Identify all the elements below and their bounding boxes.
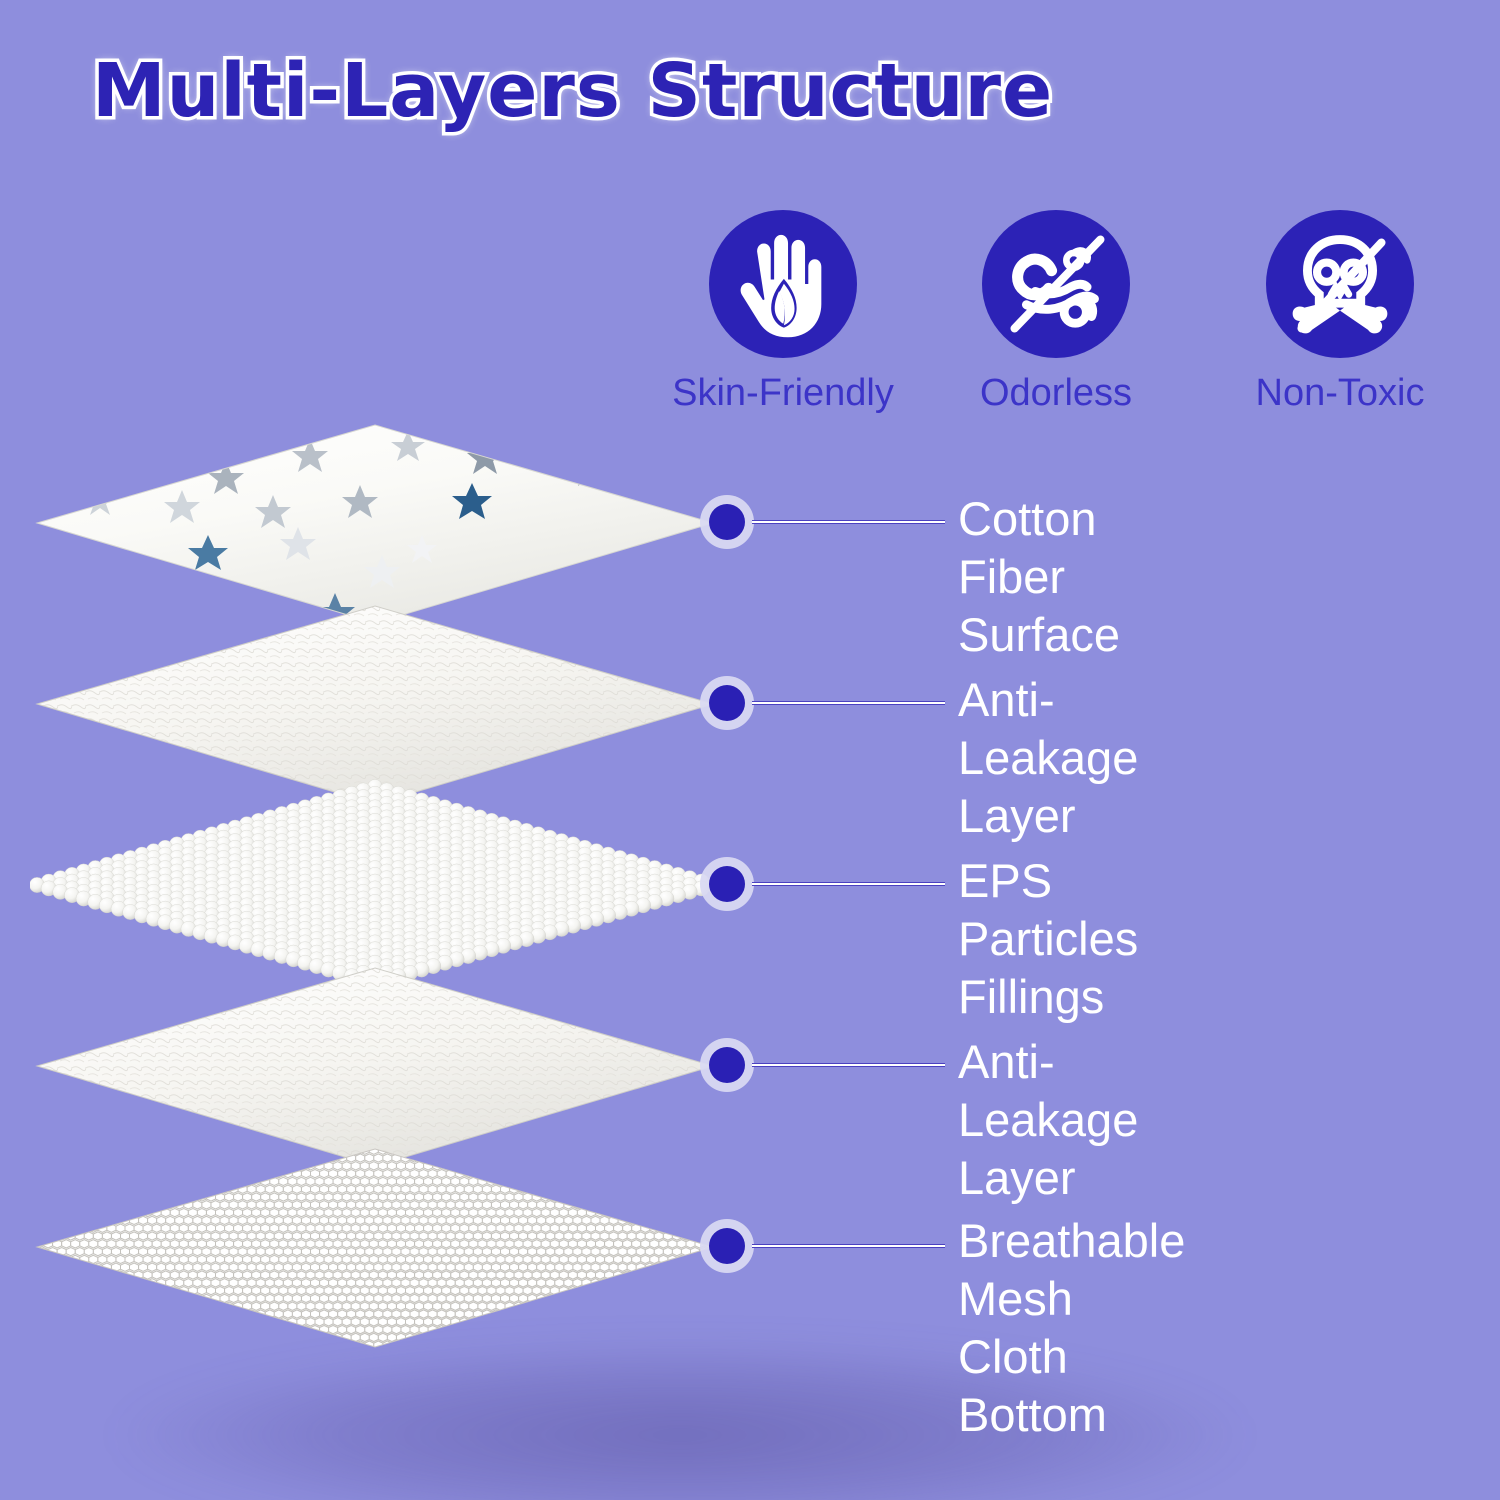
callout-label: Anti-Leakage Layer bbox=[958, 671, 1138, 845]
layer-sheet-breathable-mesh bbox=[30, 1119, 720, 1379]
callout-leader-line bbox=[752, 882, 945, 886]
no-odor-wind-icon bbox=[982, 210, 1130, 358]
callout-label: Anti-Leakage Layer bbox=[958, 1033, 1138, 1207]
callout-label: Breathable Mesh Cloth Bottom bbox=[958, 1212, 1185, 1444]
badge-circle bbox=[982, 210, 1130, 358]
callout-dot-icon bbox=[709, 685, 745, 721]
infographic-canvas: Multi-Layers Structure Skin-Friendly bbox=[0, 0, 1500, 1500]
feature-badge-group: Skin-Friendly Od bbox=[640, 210, 1460, 440]
hand-leaf-icon bbox=[709, 210, 857, 358]
callout-dot-icon bbox=[709, 504, 745, 540]
callout-dot-icon bbox=[709, 1047, 745, 1083]
feature-badge-non-toxic[interactable]: Non-Toxic bbox=[1215, 210, 1465, 415]
callout-leader-line bbox=[752, 1063, 945, 1067]
page-title: Multi-Layers Structure bbox=[92, 48, 1053, 134]
callout-leader-line bbox=[752, 520, 945, 524]
callout-label: EPS Particles Fillings bbox=[958, 852, 1138, 1026]
badge-circle bbox=[709, 210, 857, 358]
feature-badge-odorless[interactable]: Odorless bbox=[931, 210, 1181, 415]
callout-leader-line bbox=[752, 701, 945, 705]
callout-dot-icon bbox=[709, 866, 745, 902]
callout-dot-icon bbox=[709, 1228, 745, 1264]
callout-leader-line bbox=[752, 1244, 945, 1248]
feature-badge-skin-friendly[interactable]: Skin-Friendly bbox=[658, 210, 908, 415]
feature-label: Odorless bbox=[931, 372, 1181, 415]
badge-circle bbox=[1266, 210, 1414, 358]
feature-label: Non-Toxic bbox=[1215, 372, 1465, 415]
callout-label: Cotton Fiber Surface bbox=[958, 490, 1120, 664]
honeycomb-mesh-graphic bbox=[30, 1119, 720, 1379]
no-skull-crossbones-icon bbox=[1266, 210, 1414, 358]
